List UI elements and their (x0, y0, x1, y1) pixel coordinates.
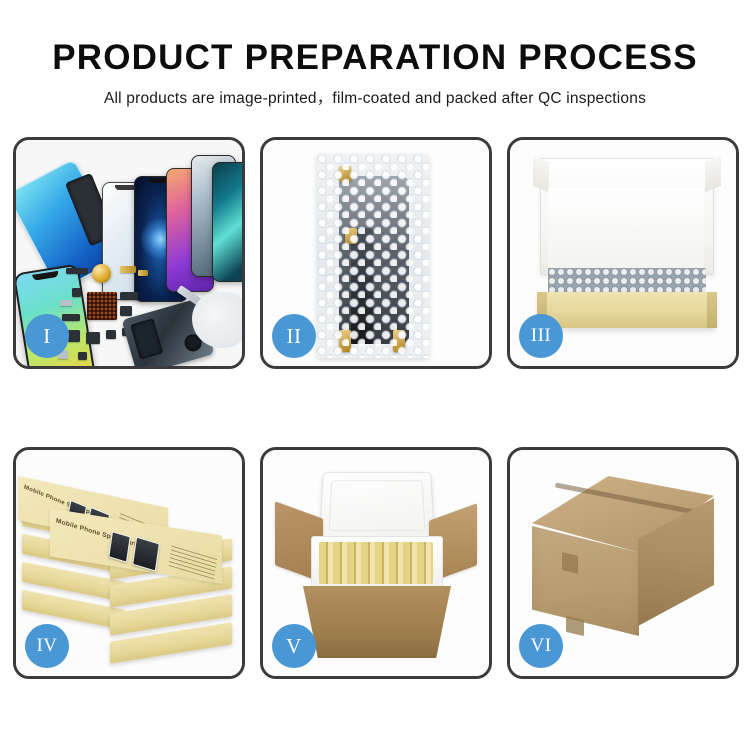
micro-part-icon (62, 314, 80, 321)
bottom-whitespace (0, 704, 750, 750)
box-product-window (132, 536, 160, 571)
box-product-window (108, 531, 131, 563)
micro-part-icon (78, 352, 87, 360)
page-subtitle: All products are image-printed，film-coat… (0, 77, 750, 108)
carton-tape-mark (562, 552, 578, 574)
micro-part-icon (106, 330, 116, 339)
micro-part-icon (86, 332, 100, 344)
micro-part-icon (66, 268, 88, 274)
page-title: PRODUCT PREPARATION PROCESS (0, 0, 750, 77)
micro-part-icon (120, 292, 138, 300)
process-step-panel-6[interactable]: VI (507, 447, 739, 679)
process-step-panel-1[interactable]: I (13, 137, 245, 369)
step-badge-6: VI (519, 624, 563, 668)
gold-coil-part-icon (92, 264, 111, 283)
page-header: PRODUCT PREPARATION PROCESS All products… (0, 0, 750, 108)
kraft-box-base (538, 292, 716, 328)
step-badge-3: III (519, 314, 563, 358)
process-step-grid: I II III (13, 137, 739, 679)
micro-part-icon (138, 270, 148, 276)
teal-phone-icon (212, 162, 242, 282)
bubble-wrap-texture (317, 154, 429, 358)
box-spec-lines (169, 543, 218, 580)
step-badge-5: V (272, 624, 316, 668)
chip-grid-part-icon (87, 292, 117, 320)
process-step-panel-3[interactable]: III (507, 137, 739, 369)
micro-part-icon (60, 300, 72, 306)
step-badge-4: IV (25, 624, 69, 668)
carton-body (303, 586, 451, 658)
step-badge-1: I (25, 314, 69, 358)
step-badge-2: II (272, 314, 316, 358)
micro-part-icon (120, 266, 136, 273)
micro-part-icon (120, 306, 132, 316)
process-step-panel-5[interactable]: V (260, 447, 492, 679)
micro-part-icon (72, 288, 81, 297)
packed-retail-boxes (319, 542, 433, 584)
bubble-wrap-bag (317, 154, 429, 358)
foam-lid (319, 472, 435, 541)
process-step-panel-4[interactable]: Mobile Phone Spare Parts Mobile Phone Sp… (13, 447, 245, 679)
white-foam-sheet (548, 188, 704, 274)
micro-part-icon (68, 330, 80, 342)
process-step-panel-2[interactable]: II (260, 137, 492, 369)
